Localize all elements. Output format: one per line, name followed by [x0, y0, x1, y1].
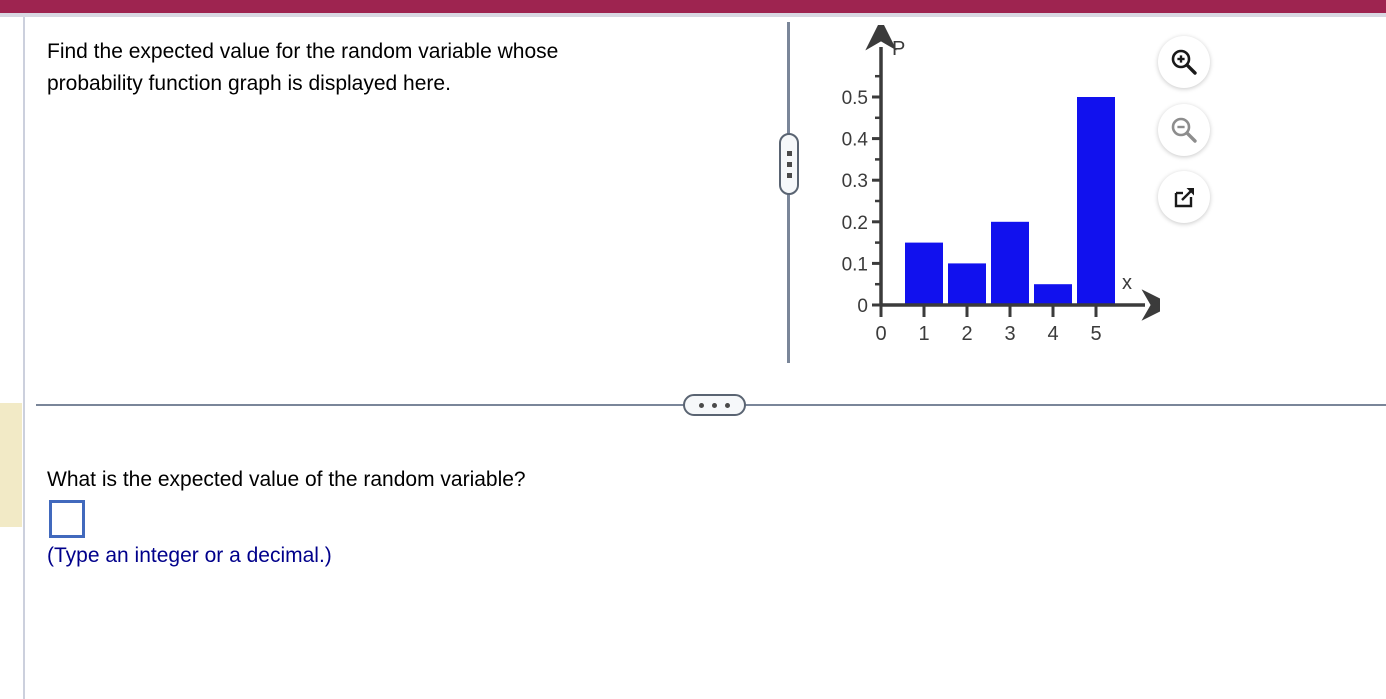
x-tick-label: 5 — [1090, 323, 1101, 345]
app-accent-underline — [0, 13, 1386, 17]
open-in-new-window-button[interactable] — [1158, 171, 1210, 223]
bar-x4 — [1034, 284, 1072, 305]
answer-input[interactable] — [49, 500, 85, 538]
answer-question-text: What is the expected value of the random… — [47, 466, 526, 494]
ellipsis-dot-icon — [699, 403, 704, 408]
y-tick-label: 0.1 — [842, 254, 868, 275]
bar-x5 — [1077, 97, 1115, 305]
x-tick-label: 0 — [875, 323, 886, 345]
problem-statement: Find the expected value for the random v… — [47, 36, 747, 100]
zoom-in-button[interactable] — [1158, 36, 1210, 88]
ellipsis-dot-icon — [725, 403, 730, 408]
bar-x3 — [991, 222, 1029, 305]
more-options-handle[interactable] — [683, 394, 746, 416]
vertical-drag-handle[interactable] — [779, 133, 799, 195]
y-tick-label: 0.4 — [842, 130, 869, 151]
zoom-out-button[interactable] — [1158, 104, 1210, 156]
x-tick-label: 4 — [1047, 323, 1058, 345]
magnifier-plus-icon — [1169, 47, 1199, 77]
y-tick-label: 0 — [857, 296, 868, 317]
answer-format-hint: (Type an integer or a decimal.) — [47, 542, 332, 570]
y-tick-labels: 0 0.1 0.2 0.3 0.4 0.5 — [842, 88, 869, 317]
ellipsis-dot-icon — [712, 403, 717, 408]
probability-bar-chart: 0 0.1 0.2 0.3 0.4 0.5 0 1 2 3 4 5 P x — [820, 25, 1160, 355]
left-border — [23, 17, 25, 699]
left-rail — [0, 17, 23, 699]
handle-dot-icon — [787, 162, 792, 167]
x-axis-label: x — [1122, 272, 1132, 294]
x-ticks — [881, 305, 1096, 317]
handle-dot-icon — [787, 151, 792, 156]
handle-dot-icon — [787, 173, 792, 178]
x-tick-labels: 0 1 2 3 4 5 — [875, 323, 1101, 345]
y-tick-label: 0.2 — [842, 213, 868, 234]
magnifier-minus-icon — [1169, 115, 1199, 145]
y-tick-label: 0.3 — [842, 171, 868, 192]
y-axis-label: P — [892, 38, 905, 60]
app-accent-bar — [0, 0, 1386, 13]
bar-series — [905, 97, 1115, 305]
bar-x1 — [905, 243, 943, 305]
external-link-icon — [1170, 183, 1198, 211]
x-tick-label: 2 — [961, 323, 972, 345]
left-progress-highlight — [0, 403, 22, 527]
chart-svg: 0 0.1 0.2 0.3 0.4 0.5 0 1 2 3 4 5 P x — [820, 25, 1160, 355]
y-tick-label: 0.5 — [842, 88, 868, 109]
question-page: Find the expected value for the random v… — [0, 0, 1386, 699]
x-tick-label: 1 — [918, 323, 929, 345]
bar-x2 — [948, 263, 986, 305]
x-tick-label: 3 — [1004, 323, 1015, 345]
